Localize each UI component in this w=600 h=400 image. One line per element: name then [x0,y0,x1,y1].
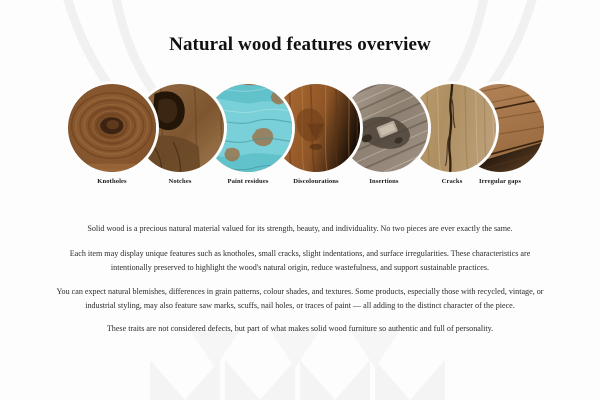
body-copy: Solid wood is a precious natural materia… [42,222,558,336]
feature-circle-strip: Knotholes [0,84,600,196]
feature-item-knotholes[interactable]: Knotholes [68,84,156,172]
poster-page: Natural wood features overview [0,0,600,400]
paragraph-1: Solid wood is a precious natural materia… [42,222,558,236]
feature-label: Knotholes [42,178,182,185]
paragraph-3: You can expect natural blemishes, differ… [42,285,558,313]
page-title: Natural wood features overview [0,34,600,56]
wood-knothole-circle-image [68,84,156,172]
paragraph-2: Each item may display unique features su… [42,247,558,275]
paragraph-4: These traits are not considered defects,… [42,322,558,336]
